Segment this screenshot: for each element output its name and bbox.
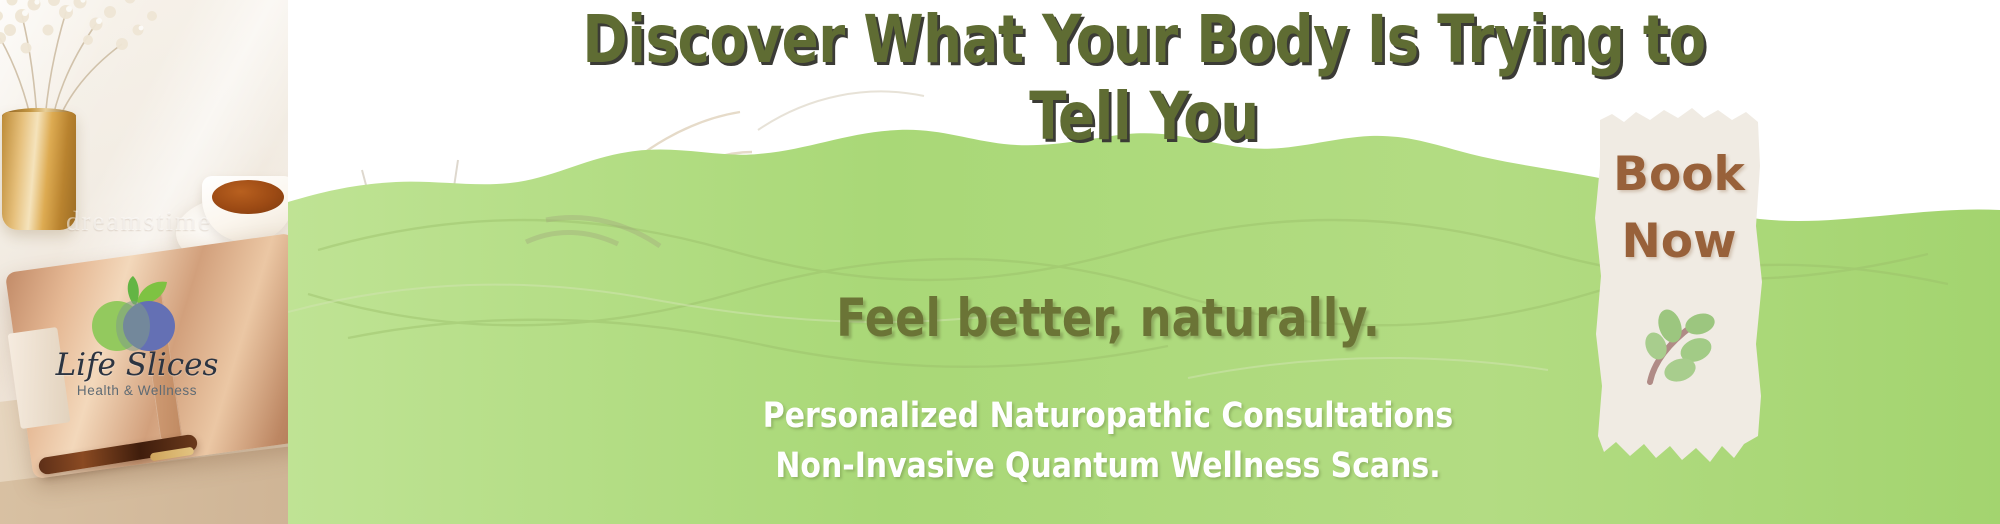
logo-tagline: Health & Wellness <box>52 383 222 398</box>
tea-liquid <box>212 180 284 214</box>
promo-banner: dreamstime Life Slices Health & Wellness <box>0 0 2000 524</box>
leaf-sprig-icon <box>1634 304 1726 388</box>
cta-line-1: Book <box>1584 142 1774 209</box>
hero-photo: dreamstime Life Slices Health & Wellness <box>0 0 288 524</box>
book-now-button[interactable]: Book Now <box>1584 106 1774 466</box>
apple-plum-leaf-logo-icon <box>81 276 193 354</box>
gold-vase-icon <box>2 112 76 230</box>
book-now-label: Book Now <box>1584 142 1774 275</box>
logo-name: Life Slices <box>52 350 222 381</box>
brand-logo: Life Slices Health & Wellness <box>52 276 222 406</box>
stock-photo-watermark: dreamstime <box>66 206 212 237</box>
cta-line-2: Now <box>1584 209 1774 276</box>
banner-content: Discover What Your Body Is Trying to Tel… <box>288 0 2000 524</box>
